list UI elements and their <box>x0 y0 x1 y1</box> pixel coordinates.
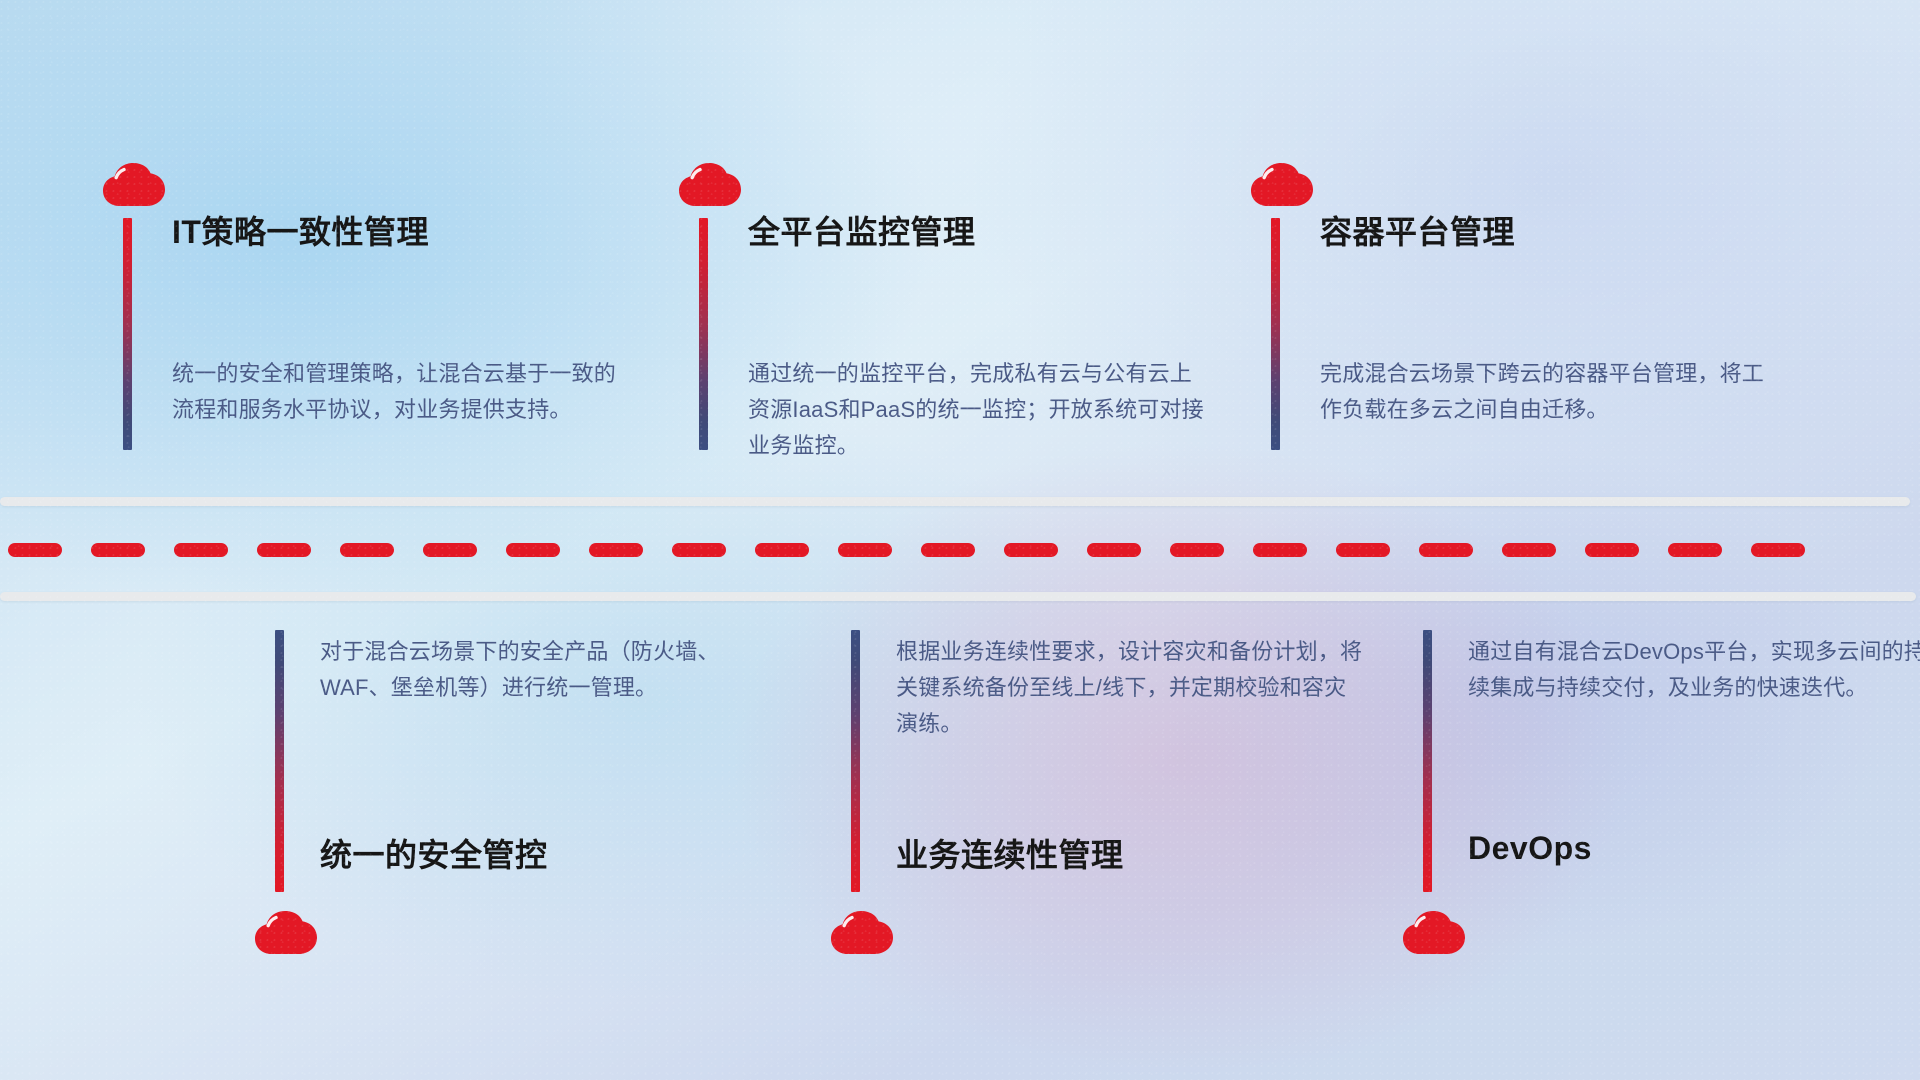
card-body: 对于混合云场景下的安全产品（防火墙、WAF、堡垒机等）进行统一管理。 <box>320 634 790 706</box>
road-dash <box>423 543 477 557</box>
road-dash <box>91 543 145 557</box>
road-dash <box>1087 543 1141 557</box>
connector-pole <box>275 630 284 892</box>
cloud-icon <box>1248 160 1316 218</box>
connector-pole <box>1271 218 1280 450</box>
card-body: 统一的安全和管理策略，让混合云基于一致的流程和服务水平协议，对业务提供支持。 <box>172 356 634 428</box>
road-dash <box>1253 543 1307 557</box>
cloud-icon <box>676 160 744 218</box>
road-dash <box>1419 543 1473 557</box>
card-body: 通过自有混合云DevOps平台，实现多云间的持续集成与持续交付，及业务的快速迭代… <box>1468 634 1920 706</box>
road-dash <box>1502 543 1556 557</box>
road-dash <box>838 543 892 557</box>
road-line-bottom <box>0 592 1916 601</box>
card-title: 容器平台管理 <box>1320 207 1515 253</box>
connector-pole <box>699 218 708 450</box>
connector-pole <box>123 218 132 450</box>
road-dash <box>1585 543 1639 557</box>
road-dash <box>755 543 809 557</box>
connector-pole <box>851 630 860 892</box>
cloud-icon <box>1400 908 1468 966</box>
cloud-icon <box>828 908 896 966</box>
road-dash <box>1336 543 1390 557</box>
card-title: 全平台监控管理 <box>748 207 976 253</box>
road-dash <box>8 543 62 557</box>
road-dash <box>1751 543 1805 557</box>
cloud-icon <box>252 908 320 966</box>
road-dash <box>506 543 560 557</box>
card-title: IT策略一致性管理 <box>172 207 429 253</box>
road-dash <box>340 543 394 557</box>
road-line-top <box>0 497 1910 506</box>
card-body: 完成混合云场景下跨云的容器平台管理，将工作负载在多云之间自由迁移。 <box>1320 356 1782 428</box>
road-dash <box>257 543 311 557</box>
road-dash <box>1668 543 1722 557</box>
card-title: 业务连续性管理 <box>896 830 1124 876</box>
road-dash <box>1170 543 1224 557</box>
card-title: DevOps <box>1468 830 1592 867</box>
card-body: 通过统一的监控平台，完成私有云与公有云上资源IaaS和PaaS的统一监控；开放系… <box>748 356 1210 464</box>
road-dash <box>1004 543 1058 557</box>
connector-pole <box>1423 630 1432 892</box>
road-dash <box>589 543 643 557</box>
cloud-icon <box>100 160 168 218</box>
card-title: 统一的安全管控 <box>320 830 548 876</box>
road-dashed-center-line <box>0 543 1920 557</box>
road-dash <box>921 543 975 557</box>
road-dash <box>672 543 726 557</box>
road-dash <box>174 543 228 557</box>
infographic-canvas: IT策略一致性管理 统一的安全和管理策略，让混合云基于一致的流程和服务水平协议，… <box>0 0 1920 1080</box>
card-body: 根据业务连续性要求，设计容灾和备份计划，将关键系统备份至线上/线下，并定期校验和… <box>896 634 1366 742</box>
